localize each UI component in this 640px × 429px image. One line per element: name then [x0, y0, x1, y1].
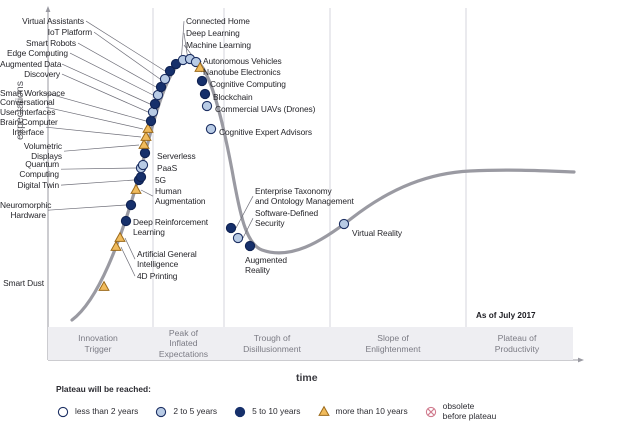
data-point-label: Smart Dust [0, 278, 44, 288]
legend-item-4[interactable]: obsolete before plateau [424, 402, 497, 421]
data-point-label: Human Augmentation [155, 186, 205, 206]
x-axis-label: time [296, 372, 318, 384]
data-point-label: Deep Reinforcement Learning [133, 217, 208, 237]
data-point-label: 5G [155, 175, 166, 185]
phase-dividers [153, 8, 466, 327]
data-point-label: 4D Printing [137, 271, 177, 281]
data-point-label: Quantum Computing [0, 159, 59, 179]
data-point-marker [121, 216, 130, 225]
data-point-label: Blockchain [213, 92, 253, 102]
hype-cycle-chart: Smart Dust4D PrintingArtificial General … [0, 0, 640, 429]
leader-line [141, 190, 153, 196]
data-point-label: Software-Defined Security [255, 208, 318, 228]
leader-line [46, 127, 141, 137]
data-point-marker [138, 160, 147, 169]
phase-label-4: Plateau of Productivity [461, 327, 573, 360]
data-point-marker [245, 241, 254, 250]
data-point-marker [226, 223, 235, 232]
legend-item-2[interactable]: 5 to 10 years [233, 405, 300, 419]
data-point-marker [200, 89, 209, 98]
leader-line [61, 168, 136, 169]
data-point-label: Discovery [0, 69, 60, 79]
data-point-label: Augmented Data [0, 59, 60, 69]
data-point-marker [111, 242, 121, 251]
leader-line [64, 145, 139, 151]
legend-item-0[interactable]: less than 2 years [56, 405, 138, 419]
data-point-marker [202, 101, 211, 110]
phase-label-3: Slope of Enlightenment [325, 327, 461, 360]
data-point-marker [131, 185, 141, 194]
data-point-label: Virtual Reality [352, 228, 402, 238]
data-point-label: Digital Twin [0, 180, 59, 190]
leader-line [46, 107, 143, 129]
data-point-marker [150, 99, 159, 108]
chart-canvas [0, 0, 640, 429]
data-point-label: Nanotube Electronics [203, 67, 281, 77]
data-point-label: Machine Learning [186, 40, 251, 50]
data-point-label: Cognitive Computing [210, 79, 286, 89]
data-point-marker [233, 233, 242, 242]
data-point-label: Volumetric Displays [0, 141, 62, 161]
leader-line [94, 32, 160, 79]
legend-label: obsolete before plateau [443, 402, 497, 421]
data-point-marker [146, 116, 155, 125]
data-point-label: IoT Platform [0, 27, 92, 37]
legend-marker-icon [424, 405, 438, 419]
data-point-label: Neuromorphic Hardware [0, 200, 46, 220]
legend-label: 2 to 5 years [173, 407, 217, 417]
legend: less than 2 years2 to 5 years5 to 10 yea… [56, 402, 576, 421]
data-point-label: Augmented Reality [245, 255, 287, 275]
legend-label: 5 to 10 years [252, 407, 300, 417]
phase-band: Innovation TriggerPeak of Inflated Expec… [48, 327, 573, 360]
data-point-label: Serverless [157, 151, 196, 161]
data-point-marker [115, 233, 125, 242]
legend-marker-icon [56, 405, 70, 419]
data-point-label: Deep Learning [186, 28, 240, 38]
data-point-label: Connected Home [186, 16, 250, 26]
legend-item-3[interactable]: more than 10 years [317, 405, 408, 419]
data-point-label: Cognitive Expert Advisors [219, 127, 312, 137]
phase-label-1: Peak of Inflated Expectations [148, 327, 219, 360]
data-point-label: PaaS [157, 163, 177, 173]
data-point-label: Artificial General Intelligence [137, 249, 197, 269]
data-point-marker [136, 172, 145, 181]
legend-label: less than 2 years [75, 407, 138, 417]
leader-line [78, 43, 156, 87]
legend-item-1[interactable]: 2 to 5 years [154, 405, 217, 419]
data-point-marker [140, 148, 149, 157]
data-point-marker [339, 219, 348, 228]
data-point-marker [126, 200, 135, 209]
data-point-label: Virtual Assistants [0, 16, 84, 26]
plot-frame [46, 6, 584, 362]
data-point-label: Autonomous Vehicles [203, 56, 282, 66]
leader-line [62, 64, 150, 104]
data-point-label: Enterprise Taxonomy and Ontology Managem… [255, 186, 354, 206]
data-point-label: Edge Computing [0, 48, 68, 58]
data-point-label: Smart Robots [0, 38, 76, 48]
as-of-date: As of July 2017 [476, 311, 536, 320]
leader-line [48, 205, 126, 210]
legend-marker-icon [233, 405, 247, 419]
legend-marker-icon [154, 405, 168, 419]
legend-label: more than 10 years [336, 407, 408, 417]
y-axis-label: expectations [14, 81, 26, 140]
legend-title: Plateau will be reached: [56, 384, 151, 394]
leader-line [121, 247, 135, 276]
legend-marker-icon [317, 405, 331, 419]
phase-label-2: Trough of Disillusionment [219, 327, 325, 360]
leader-line [61, 180, 134, 185]
leader-line [70, 53, 153, 95]
leader-line [125, 238, 135, 259]
data-point-marker [206, 124, 215, 133]
data-point-label: Commercial UAVs (Drones) [215, 104, 315, 114]
leader-line [62, 74, 148, 112]
data-point-marker [197, 76, 206, 85]
phase-label-0: Innovation Trigger [48, 327, 148, 360]
